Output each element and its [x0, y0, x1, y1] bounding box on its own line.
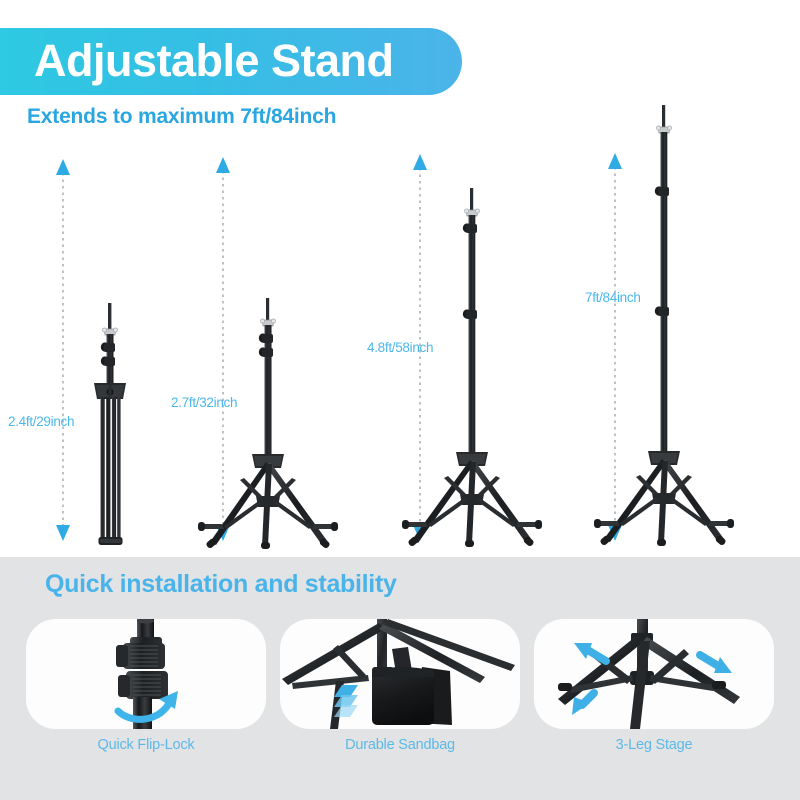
- caption-flip-lock: Quick Flip-Lock: [26, 737, 266, 761]
- stand-illustration-1: [82, 299, 138, 549]
- feature-card-flip-lock[interactable]: [26, 619, 266, 729]
- stand-comparison-section: 2.4ft/29inch: [0, 150, 800, 557]
- tripod-legs-illustration: [534, 619, 774, 729]
- stand-illustration-3: [390, 186, 555, 551]
- feature-card-3-leg-stage[interactable]: [534, 619, 774, 729]
- flip-lock-illustration: [26, 619, 266, 729]
- feature-card-sandbag[interactable]: [280, 619, 520, 729]
- page-subtitle: Extends to maximum 7ft/84inch: [27, 105, 336, 129]
- caption-sandbag: Durable Sandbag: [280, 737, 520, 761]
- features-title: Quick installation and stability: [45, 570, 397, 599]
- page-title: Adjustable Stand: [34, 29, 394, 93]
- stand-illustration-2: [188, 296, 348, 551]
- product-infographic: Adjustable Stand Extends to maximum 7ft/…: [0, 0, 800, 800]
- caption-3-leg-stage: 3-Leg Stage: [534, 737, 774, 761]
- stand-illustration-4: [580, 103, 750, 551]
- measure-arrow-1: [48, 155, 78, 545]
- feature-captions: Quick Flip-Lock Durable Sandbag 3-Leg St…: [26, 737, 774, 761]
- stand-measure-label-1: 2.4ft/29inch: [8, 414, 74, 429]
- sandbag-illustration: [280, 619, 520, 729]
- features-section: Quick installation and stability: [0, 557, 800, 800]
- feature-cards: [26, 619, 774, 729]
